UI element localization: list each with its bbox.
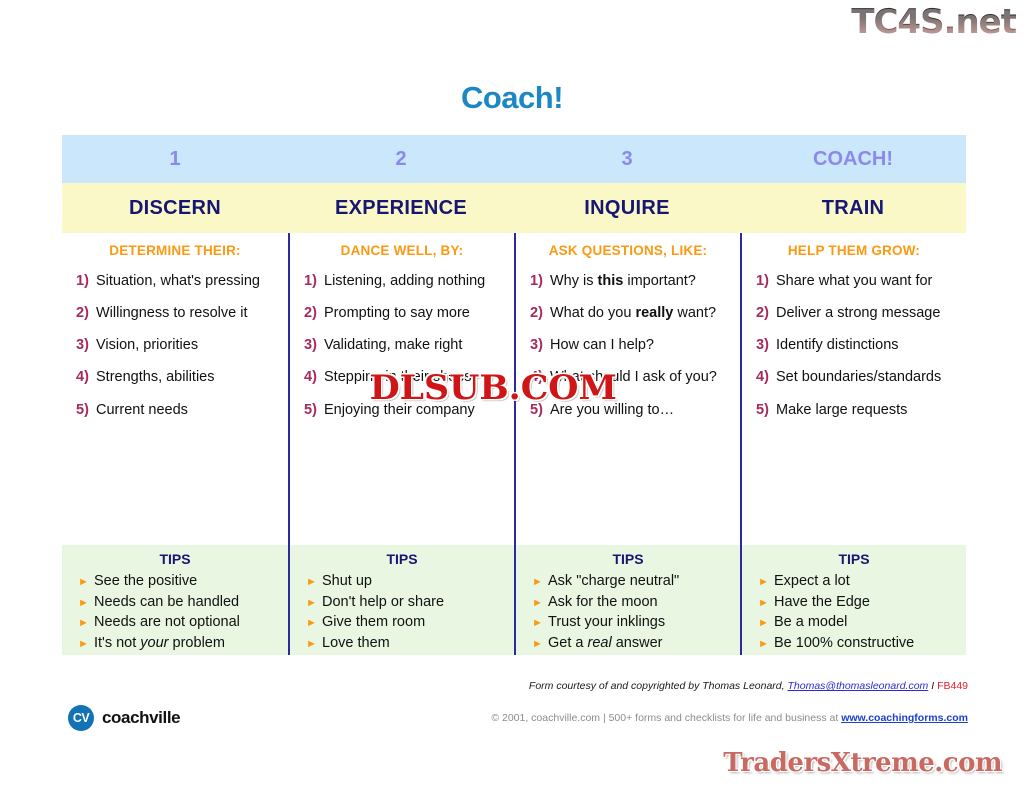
tips-list-2: ►Shut up ►Don't help or share ►Give them… <box>296 571 508 653</box>
triangle-bullet-icon: ► <box>758 596 774 612</box>
list-item: 2)Deliver a strong message <box>756 304 960 322</box>
coachville-wordmark: coachville <box>102 708 180 728</box>
list-item: ►Needs can be handled <box>78 592 282 613</box>
list-marker: 1) <box>530 272 550 290</box>
list-item: 1)Why is this important? <box>530 272 734 290</box>
cv-badge-icon: CV <box>68 705 94 731</box>
list-item: 1)Listening, adding nothing <box>304 272 508 290</box>
triangle-bullet-icon: ► <box>306 616 322 632</box>
list-text: What do you really want? <box>550 304 734 322</box>
tip-text: Needs are not optional <box>94 612 240 633</box>
list-item: 3)Vision, priorities <box>76 336 282 354</box>
list-item: ►Ask for the moon <box>532 592 734 613</box>
list-marker: 4) <box>304 368 324 386</box>
list-item: ►Ask "charge neutral" <box>532 571 734 592</box>
column-body-1: DETERMINE THEIR: 1)Situation, what's pre… <box>62 233 288 545</box>
numbered-list-2: 1)Listening, adding nothing 2)Prompting … <box>296 272 508 419</box>
column-number-3: 3 <box>514 135 740 183</box>
list-marker: 4) <box>76 368 96 386</box>
list-item: 5)Current needs <box>76 401 282 419</box>
tip-text: Love them <box>322 633 390 654</box>
list-text: Are you willing to… <box>550 401 734 419</box>
credit-separator: I <box>928 680 937 692</box>
numbered-list-3: 1)Why is this important? 2)What do you r… <box>522 272 734 419</box>
triangle-bullet-icon: ► <box>306 596 322 612</box>
list-marker: 5) <box>530 401 550 419</box>
triangle-bullet-icon: ► <box>78 637 94 653</box>
list-item: 4)Stepping in their shoes <box>304 368 508 386</box>
list-text: Vision, priorities <box>96 336 282 354</box>
list-text: What should I ask of you? <box>550 368 734 386</box>
column-subhead-4: HELP THEM GROW: <box>748 243 960 258</box>
numbered-list-1: 1)Situation, what's pressing 2)Willingne… <box>68 272 282 419</box>
list-item: 5)Are you willing to… <box>530 401 734 419</box>
column-subhead-3: ASK QUESTIONS, LIKE: <box>522 243 734 258</box>
triangle-bullet-icon: ► <box>78 575 94 591</box>
thomas-email-link[interactable]: Thomas@thomasleonard.com <box>787 680 928 692</box>
list-item: ►Trust your inklings <box>532 612 734 633</box>
list-marker: 1) <box>76 272 96 290</box>
form-code: FB449 <box>937 680 968 692</box>
list-item: 1)Share what you want for <box>756 272 960 290</box>
list-text: Deliver a strong message <box>776 304 960 322</box>
tip-text: Ask "charge neutral" <box>548 571 679 592</box>
tip-text: Trust your inklings <box>548 612 665 633</box>
tip-text: Have the Edge <box>774 592 870 613</box>
triangle-bullet-icon: ► <box>758 575 774 591</box>
list-marker: 4) <box>530 368 550 386</box>
copyright-line: © 2001, coachville.com | 500+ forms and … <box>491 712 968 724</box>
triangle-bullet-icon: ► <box>532 637 548 653</box>
list-text: Strengths, abilities <box>96 368 282 386</box>
list-text: Share what you want for <box>776 272 960 290</box>
list-text: Why is this important? <box>550 272 734 290</box>
list-item: ►Needs are not optional <box>78 612 282 633</box>
list-item: ►Have the Edge <box>758 592 960 613</box>
tip-text: It's not your problem <box>94 633 225 654</box>
list-text: Prompting to say more <box>324 304 508 322</box>
tip-text: Expect a lot <box>774 571 850 592</box>
coachingforms-link[interactable]: www.coachingforms.com <box>841 712 968 724</box>
tip-text: Be a model <box>774 612 847 633</box>
triangle-bullet-icon: ► <box>758 637 774 653</box>
column-title-band: DISCERN EXPERIENCE INQUIRE TRAIN <box>62 183 966 233</box>
list-item: 2)What do you really want? <box>530 304 734 322</box>
list-marker: 2) <box>756 304 776 322</box>
triangle-bullet-icon: ► <box>306 575 322 591</box>
list-item: 1)Situation, what's pressing <box>76 272 282 290</box>
tip-text: Needs can be handled <box>94 592 239 613</box>
tip-text: Ask for the moon <box>548 592 658 613</box>
tips-label-3: TIPS <box>522 551 734 567</box>
list-item: 3)How can I help? <box>530 336 734 354</box>
triangle-bullet-icon: ► <box>306 637 322 653</box>
tip-text: Get a real answer <box>548 633 662 654</box>
list-marker: 3) <box>304 336 324 354</box>
page-title: Coach! <box>0 80 1024 116</box>
list-item: ►Be 100% constructive <box>758 633 960 654</box>
list-item: 4)Set boundaries/standards <box>756 368 960 386</box>
list-marker: 1) <box>756 272 776 290</box>
list-marker: 1) <box>304 272 324 290</box>
list-item: 5)Make large requests <box>756 401 960 419</box>
tips-cell-2: TIPS ►Shut up ►Don't help or share ►Give… <box>288 545 514 655</box>
triangle-bullet-icon: ► <box>78 616 94 632</box>
column-body-band: DETERMINE THEIR: 1)Situation, what's pre… <box>62 233 966 545</box>
numbered-list-4: 1)Share what you want for 2)Deliver a st… <box>748 272 960 419</box>
list-marker: 2) <box>304 304 324 322</box>
list-item: 4)Strengths, abilities <box>76 368 282 386</box>
tips-label-4: TIPS <box>748 551 960 567</box>
tip-text: Shut up <box>322 571 372 592</box>
tips-cell-1: TIPS ►See the positive ►Needs can be han… <box>62 545 288 655</box>
list-item: 3)Validating, make right <box>304 336 508 354</box>
tip-text: Be 100% constructive <box>774 633 914 654</box>
tradersxtreme-watermark: TradersXtreme.com <box>723 748 1002 778</box>
list-item: ►Love them <box>306 633 508 654</box>
form-page: TC4S.net Coach! 1 2 3 COACH! DISCERN EXP… <box>0 0 1024 791</box>
list-item: 3)Identify distinctions <box>756 336 960 354</box>
list-marker: 5) <box>756 401 776 419</box>
column-title-discern: DISCERN <box>62 183 288 233</box>
list-text: Listening, adding nothing <box>324 272 508 290</box>
column-body-3: ASK QUESTIONS, LIKE: 1)Why is this impor… <box>514 233 740 545</box>
list-text: Current needs <box>96 401 282 419</box>
list-text: Validating, make right <box>324 336 508 354</box>
list-item: ►Be a model <box>758 612 960 633</box>
tips-band: TIPS ►See the positive ►Needs can be han… <box>62 545 966 655</box>
tips-label-1: TIPS <box>68 551 282 567</box>
list-item: ►Get a real answer <box>532 633 734 654</box>
tips-list-4: ►Expect a lot ►Have the Edge ►Be a model… <box>748 571 960 653</box>
column-title-experience: EXPERIENCE <box>288 183 514 233</box>
triangle-bullet-icon: ► <box>532 575 548 591</box>
credit-prefix: Form courtesy of and copyrighted by Thom… <box>529 680 788 692</box>
tip-text: Don't help or share <box>322 592 444 613</box>
list-item: ►Expect a lot <box>758 571 960 592</box>
triangle-bullet-icon: ► <box>532 596 548 612</box>
coachville-logo: CV coachville <box>68 705 180 731</box>
list-text: How can I help? <box>550 336 734 354</box>
list-text: Situation, what's pressing <box>96 272 282 290</box>
triangle-bullet-icon: ► <box>758 616 774 632</box>
list-text: Stepping in their shoes <box>324 368 508 386</box>
column-body-4: HELP THEM GROW: 1)Share what you want fo… <box>740 233 966 545</box>
tips-cell-4: TIPS ►Expect a lot ►Have the Edge ►Be a … <box>740 545 966 655</box>
tip-text: See the positive <box>94 571 197 592</box>
list-text: Enjoying their company <box>324 401 508 419</box>
column-subhead-2: DANCE WELL, BY: <box>296 243 508 258</box>
column-number-2: 2 <box>288 135 514 183</box>
coach-matrix: 1 2 3 COACH! DISCERN EXPERIENCE INQUIRE … <box>62 135 966 655</box>
list-text: Identify distinctions <box>776 336 960 354</box>
tips-label-2: TIPS <box>296 551 508 567</box>
tips-list-3: ►Ask "charge neutral" ►Ask for the moon … <box>522 571 734 653</box>
tips-cell-3: TIPS ►Ask "charge neutral" ►Ask for the … <box>514 545 740 655</box>
list-item: 4)What should I ask of you? <box>530 368 734 386</box>
list-marker: 3) <box>530 336 550 354</box>
list-marker: 5) <box>76 401 96 419</box>
list-marker: 4) <box>756 368 776 386</box>
list-text: Willingness to resolve it <box>96 304 282 322</box>
list-marker: 3) <box>756 336 776 354</box>
column-number-4: COACH! <box>740 135 966 183</box>
list-item: 2)Prompting to say more <box>304 304 508 322</box>
column-number-1: 1 <box>62 135 288 183</box>
credit-line: Form courtesy of and copyrighted by Thom… <box>529 680 968 692</box>
triangle-bullet-icon: ► <box>532 616 548 632</box>
list-item: ►Give them room <box>306 612 508 633</box>
list-marker: 2) <box>530 304 550 322</box>
column-number-band: 1 2 3 COACH! <box>62 135 966 183</box>
list-text: Set boundaries/standards <box>776 368 960 386</box>
column-subhead-1: DETERMINE THEIR: <box>68 243 282 258</box>
list-marker: 5) <box>304 401 324 419</box>
column-title-inquire: INQUIRE <box>514 183 740 233</box>
list-marker: 3) <box>76 336 96 354</box>
list-item: 2)Willingness to resolve it <box>76 304 282 322</box>
column-title-train: TRAIN <box>740 183 966 233</box>
triangle-bullet-icon: ► <box>78 596 94 612</box>
tc4s-brand-logo: TC4S.net <box>851 2 1016 42</box>
list-item: 5)Enjoying their company <box>304 401 508 419</box>
list-item: ►See the positive <box>78 571 282 592</box>
list-text: Make large requests <box>776 401 960 419</box>
tip-text: Give them room <box>322 612 425 633</box>
tips-list-1: ►See the positive ►Needs can be handled … <box>68 571 282 653</box>
list-item: ►It's not your problem <box>78 633 282 654</box>
list-item: ►Don't help or share <box>306 592 508 613</box>
list-marker: 2) <box>76 304 96 322</box>
column-body-2: DANCE WELL, BY: 1)Listening, adding noth… <box>288 233 514 545</box>
copyright-prefix: © 2001, coachville.com | 500+ forms and … <box>491 712 841 724</box>
list-item: ►Shut up <box>306 571 508 592</box>
